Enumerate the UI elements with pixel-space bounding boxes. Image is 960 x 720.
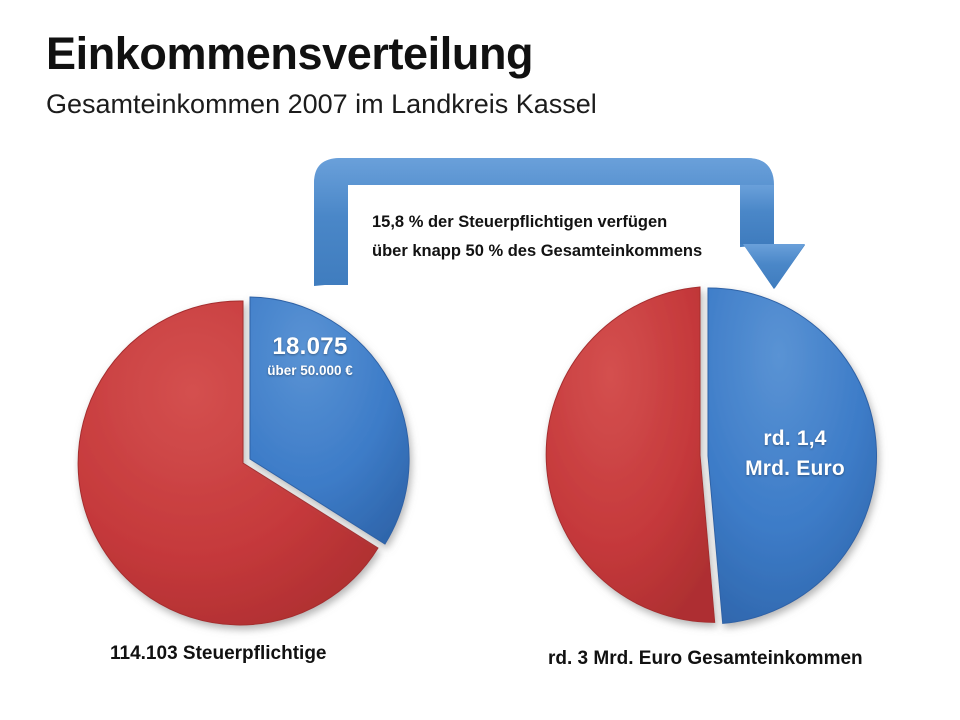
callout-line-1: 15,8 % der Steuerpflichtigen verfügen: [372, 208, 752, 237]
callout-line-2: über knapp 50 % des Gesamteinkommens: [372, 237, 752, 266]
pie-right-caption: rd. 3 Mrd. Euro Gesamteinkommen: [548, 648, 863, 670]
callout-text: 15,8 % der Steuerpflichtigen verfügen üb…: [372, 208, 752, 266]
pie-slice-red-right[interactable]: [546, 287, 715, 622]
page-title: Einkommensverteilung: [46, 28, 533, 80]
income-pie-chart: [505, 270, 905, 650]
pie-slice-blue-right[interactable]: [708, 288, 877, 623]
page-subtitle: Gesamteinkommen 2007 im Landkreis Kassel: [46, 89, 597, 120]
pie-left-caption: 114.103 Steuerpflichtige: [110, 643, 327, 665]
taxpayers-pie-chart: [60, 280, 440, 650]
